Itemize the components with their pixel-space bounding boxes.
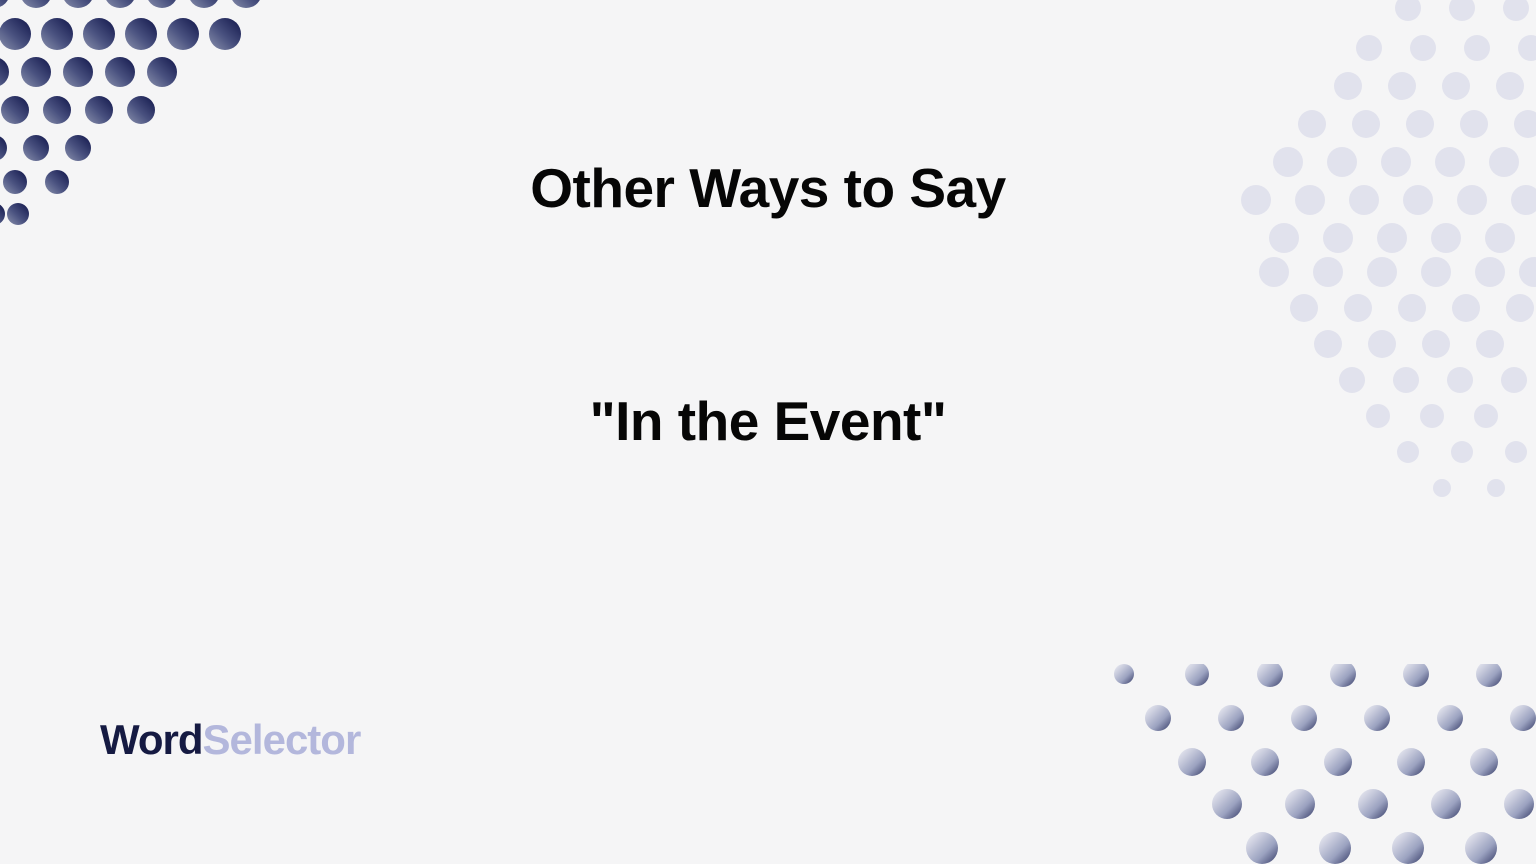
gradient-dot-cluster-icon bbox=[1096, 664, 1536, 864]
page-title-phrase: "In the Event" bbox=[0, 391, 1536, 452]
brand-logo-selector: Selector bbox=[203, 716, 361, 763]
page-title-prefix: Other Ways to Say bbox=[0, 158, 1536, 219]
brand-logo-word: Word bbox=[100, 716, 203, 763]
brand-logo[interactable]: WordSelector bbox=[100, 719, 360, 761]
lavender-dot-field-icon bbox=[1156, 0, 1536, 540]
navy-dot-triangle-icon bbox=[0, 0, 300, 260]
slide-canvas: Other Ways to Say "In the Event" WordSel… bbox=[0, 0, 1536, 864]
